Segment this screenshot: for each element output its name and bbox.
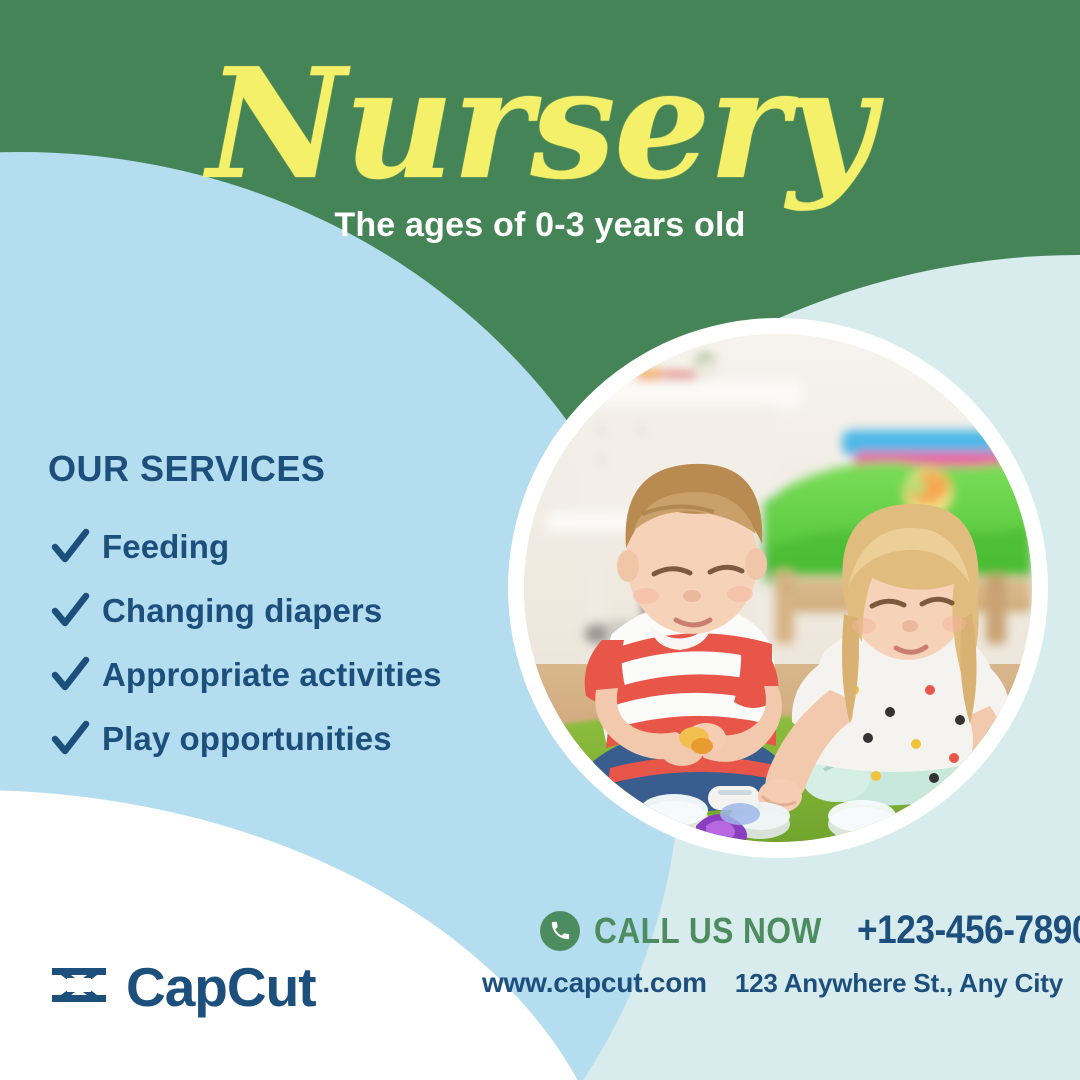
phone-number[interactable]: +123-456-7890 <box>857 908 1080 953</box>
list-item: Appropriate activities <box>48 652 442 698</box>
call-row: CALL US NOW +123-456-7890 <box>540 908 1050 953</box>
check-icon <box>48 525 92 569</box>
capcut-logo-text: CapCut <box>126 955 316 1019</box>
nursery-photo <box>524 334 1032 842</box>
poster-header: Nursery The ages of 0-3 years old <box>0 0 1080 245</box>
page-title: Nursery <box>0 0 1080 200</box>
service-label: Play opportunities <box>102 720 392 758</box>
photo-circle-frame <box>508 318 1048 858</box>
page-subtitle: The ages of 0-3 years old <box>0 200 1080 245</box>
list-item: Play opportunities <box>48 716 442 762</box>
service-label: Appropriate activities <box>102 656 442 694</box>
services-list: Feeding Changing diapers Appropriate act… <box>48 524 442 762</box>
check-icon <box>48 653 92 697</box>
phone-icon <box>540 911 580 951</box>
services-heading: OUR SERVICES <box>48 448 442 490</box>
service-label: Changing diapers <box>102 592 382 630</box>
check-icon <box>48 589 92 633</box>
list-item: Feeding <box>48 524 442 570</box>
capcut-logo: CapCut <box>48 955 316 1019</box>
check-icon <box>48 717 92 761</box>
address-text: 123 Anywhere St., Any City <box>735 968 1063 999</box>
services-section: OUR SERVICES Feeding Changing diapers <box>48 448 442 780</box>
list-item: Changing diapers <box>48 588 442 634</box>
capcut-logo-icon <box>48 962 110 1012</box>
website-link[interactable]: www.capcut.com <box>482 967 707 999</box>
contact-section: CALL US NOW +123-456-7890 www.capcut.com… <box>540 908 1050 999</box>
info-row: www.capcut.com 123 Anywhere St., Any Cit… <box>482 967 1050 999</box>
poster-canvas: Nursery The ages of 0-3 years old <box>0 0 1080 1080</box>
service-label: Feeding <box>102 528 229 566</box>
call-us-label: CALL US NOW <box>594 910 822 952</box>
